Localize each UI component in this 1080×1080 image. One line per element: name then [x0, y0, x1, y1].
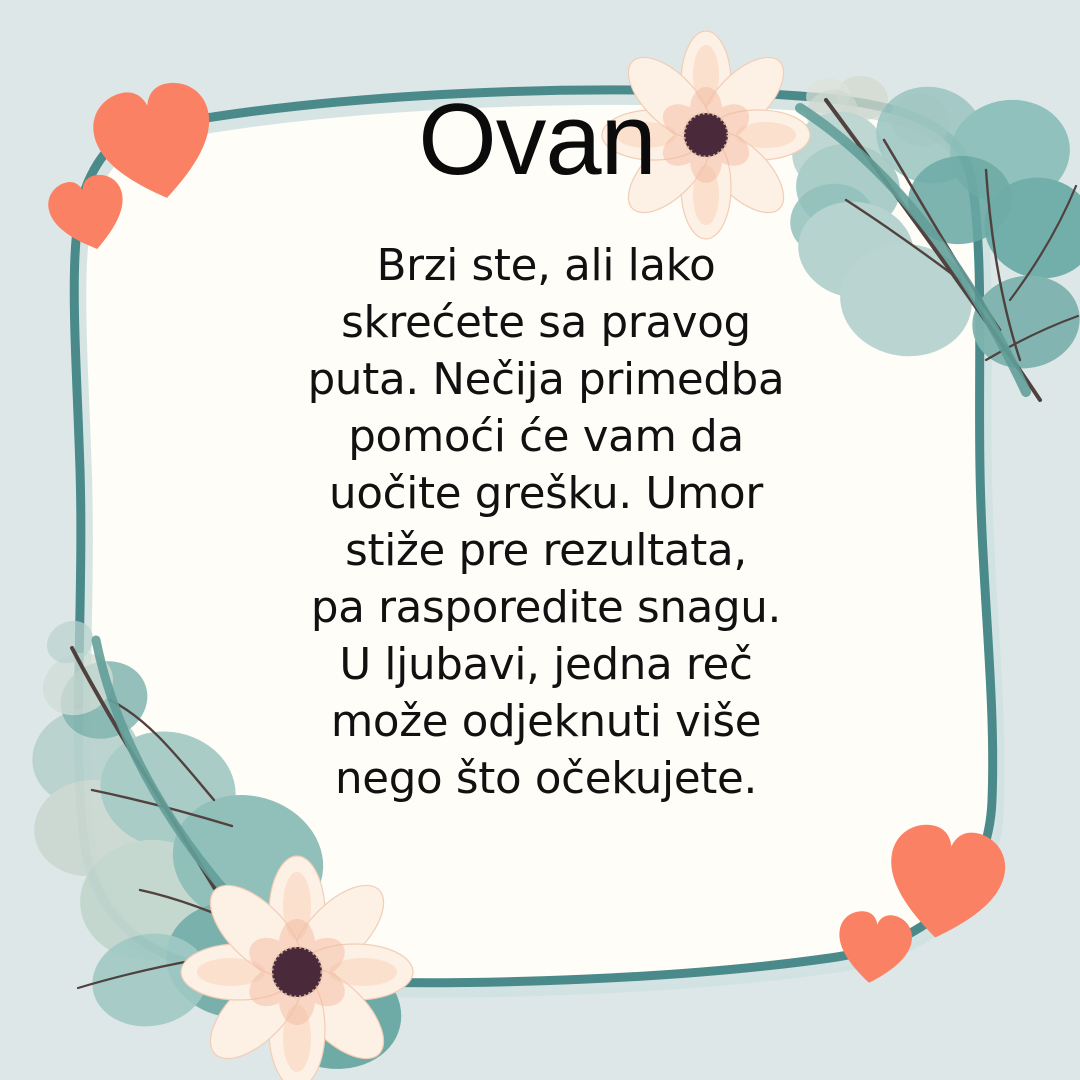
poster-canvas: Ovan Brzi ste, ali lakoskrećete sa pravo…: [0, 0, 1080, 1080]
hearts-layer: [0, 0, 1080, 1080]
heart-decor-small: [833, 908, 915, 987]
heart-decor-small: [43, 170, 133, 258]
